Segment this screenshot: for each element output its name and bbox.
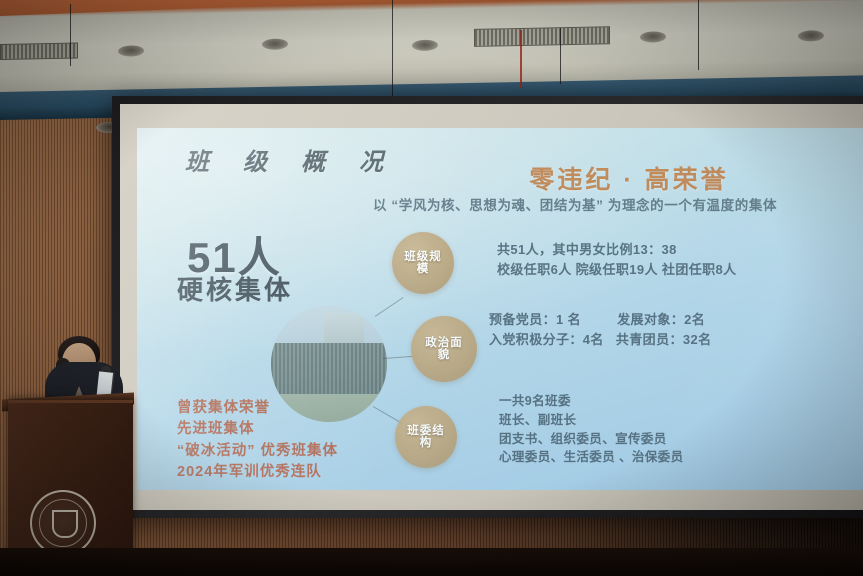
hanging-wire [392,0,393,104]
info-line: 入党积极分子：4名 共青团员：32名 [489,330,712,350]
info-class-scale: 共51人，其中男女比例13：38 校级任职6人 院级任职19人 社团任职8人 [497,240,737,280]
presentation-slide: 班 级 概 况 零违纪 · 高荣誉 以 “学风为核、思想为魂、团结为基” 为理念… [137,128,863,490]
floor [0,548,863,576]
honors-line: 2024年军训优秀连队 [177,462,338,483]
air-vent [474,26,610,47]
class-size-caption: 硬核集体 [177,270,293,307]
node-political-status: 政治面 貌 [411,316,477,382]
photo-students-crowd [271,343,387,396]
honors-line: 先进班集体 [177,419,338,440]
ceiling-light-icon [640,31,666,42]
info-line: 预备党员：1 名 发展对象：2名 [489,310,712,330]
air-vent [0,43,78,60]
slide-section-title: 班 级 概 况 [185,142,397,177]
info-line: 共51人，其中男女比例13：38 [497,240,737,260]
info-committee-structure: 一共9名班委 班长、副班长 团支书、组织委员、宣传委员 心理委员、生活委员 、治… [499,392,683,467]
info-political-status: 预备党员：1 名 发展对象：2名 入党积极分子：4名 共青团员：32名 [489,310,712,350]
hanging-wire [698,0,699,70]
node-label-line1: 政治面 [425,337,463,349]
hanging-wire-red [520,30,522,88]
hanging-wire [560,28,561,84]
slide-headline: 零违纪 · 高荣誉 [419,160,839,196]
ceiling-light-icon [412,40,438,51]
honors-list: 曾获集体荣誉 先进班集体 “破冰活动” 优秀班集体 2024年军训优秀连队 [177,398,338,484]
honors-line: “破冰活动” 优秀班集体 [177,441,338,462]
info-line: 班长、副班长 [499,411,683,430]
node-label-line2: 构 [407,437,445,449]
honors-line: 曾获集体荣誉 [177,398,338,419]
node-label-line2: 貌 [425,349,463,361]
node-committee-structure: 班委结 构 [395,406,457,468]
node-label-line2: 模 [404,263,442,275]
slide-subheadline: 以 “学风为核、思想为魂、团结为基” 为理念的一个有温度的集体 [305,194,845,214]
ceiling-light-icon [262,38,288,49]
university-crest-icon [30,490,96,556]
info-line: 心理委员、生活委员 、治保委员 [499,448,683,467]
info-line: 校级任职6人 院级任职19人 社团任职8人 [497,260,737,280]
ceiling-light-icon [118,45,144,56]
node-class-scale: 班级规 模 [392,232,454,294]
info-line: 团支书、组织委员、宣传委员 [499,430,683,449]
ceiling-light-icon [798,30,824,41]
hanging-wire [70,4,71,66]
ceiling-top-strip [0,0,863,16]
info-line: 一共9名班委 [499,392,683,411]
node-label-line1: 班委结 [407,425,445,437]
lecture-hall-photo: 班 级 概 况 零违纪 · 高荣誉 以 “学风为核、思想为魂、团结为基” 为理念… [0,0,863,576]
node-label-line1: 班级规 [404,251,442,263]
